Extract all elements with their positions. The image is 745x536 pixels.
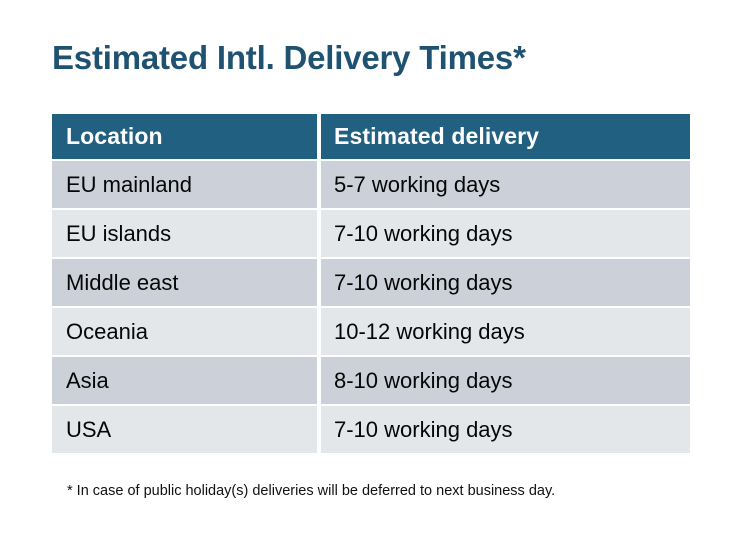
cell-location-text: Oceania (66, 319, 148, 345)
cell-location-text: EU mainland (66, 172, 192, 198)
cell-delivery: 7-10 working days (321, 210, 690, 257)
cell-location-text: Middle east (66, 270, 179, 296)
cell-delivery-text: 10-12 working days (334, 319, 525, 345)
delivery-times-table: Location Estimated delivery EU mainland … (52, 114, 690, 453)
cell-location: USA (52, 406, 317, 453)
cell-delivery-text: 5-7 working days (334, 172, 500, 198)
cell-delivery-text: 7-10 working days (334, 270, 513, 296)
page-title: Estimated Intl. Delivery Times* (52, 38, 526, 78)
cell-location: Oceania (52, 308, 317, 355)
cell-delivery: 8-10 working days (321, 357, 690, 404)
column-header-delivery: Estimated delivery (321, 114, 690, 159)
column-header-delivery-label: Estimated delivery (334, 123, 539, 150)
cell-location: Asia (52, 357, 317, 404)
column-header-location-label: Location (66, 123, 163, 150)
cell-location-text: Asia (66, 368, 109, 394)
column-header-location: Location (52, 114, 317, 159)
cell-location: Middle east (52, 259, 317, 306)
cell-location: EU mainland (52, 161, 317, 208)
cell-delivery-text: 7-10 working days (334, 417, 513, 443)
table-header-row: Location Estimated delivery (52, 114, 690, 159)
cell-delivery: 7-10 working days (321, 259, 690, 306)
cell-delivery: 5-7 working days (321, 161, 690, 208)
cell-location: EU islands (52, 210, 317, 257)
delivery-times-card: Estimated Intl. Delivery Times* Location… (0, 0, 745, 536)
cell-delivery-text: 7-10 working days (334, 221, 513, 247)
table-row: Oceania 10-12 working days (52, 308, 690, 355)
cell-delivery-text: 8-10 working days (334, 368, 513, 394)
cell-location-text: USA (66, 417, 111, 443)
table-row: USA 7-10 working days (52, 406, 690, 453)
cell-location-text: EU islands (66, 221, 171, 247)
table-row: Middle east 7-10 working days (52, 259, 690, 306)
cell-delivery: 10-12 working days (321, 308, 690, 355)
footnote: * In case of public holiday(s) deliverie… (67, 481, 555, 501)
cell-delivery: 7-10 working days (321, 406, 690, 453)
table-row: EU islands 7-10 working days (52, 210, 690, 257)
table-row: EU mainland 5-7 working days (52, 161, 690, 208)
table-row: Asia 8-10 working days (52, 357, 690, 404)
